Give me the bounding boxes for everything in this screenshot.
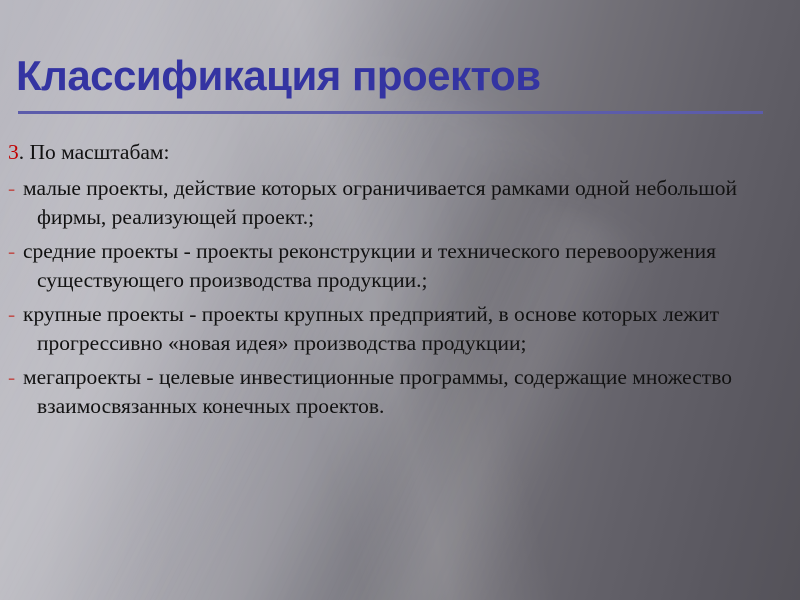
list-item: - малые проекты, действие которых ограни… xyxy=(6,174,776,233)
presentation-slide: Классификация проектов 3. По масштабам: … xyxy=(0,0,800,600)
list-item-text: мегапроекты - целевые инвестиционные про… xyxy=(37,363,776,422)
list-item: - средние проекты - проекты реконструкци… xyxy=(6,237,776,296)
slide-body: 3. По масштабам: - малые проекты, действ… xyxy=(6,138,776,426)
bullet-dash-icon: - xyxy=(8,300,15,330)
list-item-text: малые проекты, действие которых ограничи… xyxy=(37,174,776,233)
intro-line: 3. По масштабам: xyxy=(8,138,776,168)
intro-text: . По масштабам: xyxy=(19,140,170,164)
bullet-dash-icon: - xyxy=(8,174,15,204)
intro-number: 3 xyxy=(8,140,19,164)
list-item: - мегапроекты - целевые инвестиционные п… xyxy=(6,363,776,422)
bullet-dash-icon: - xyxy=(8,237,15,267)
list-item-text: средние проекты - проекты реконструкции … xyxy=(37,237,776,296)
title-divider-rule xyxy=(18,111,763,114)
list-item: - крупные проекты - проекты крупных пред… xyxy=(6,300,776,359)
bullet-dash-icon: - xyxy=(8,363,15,393)
list-item-text: крупные проекты - проекты крупных предпр… xyxy=(37,300,776,359)
slide-title: Классификация проектов xyxy=(16,52,776,100)
